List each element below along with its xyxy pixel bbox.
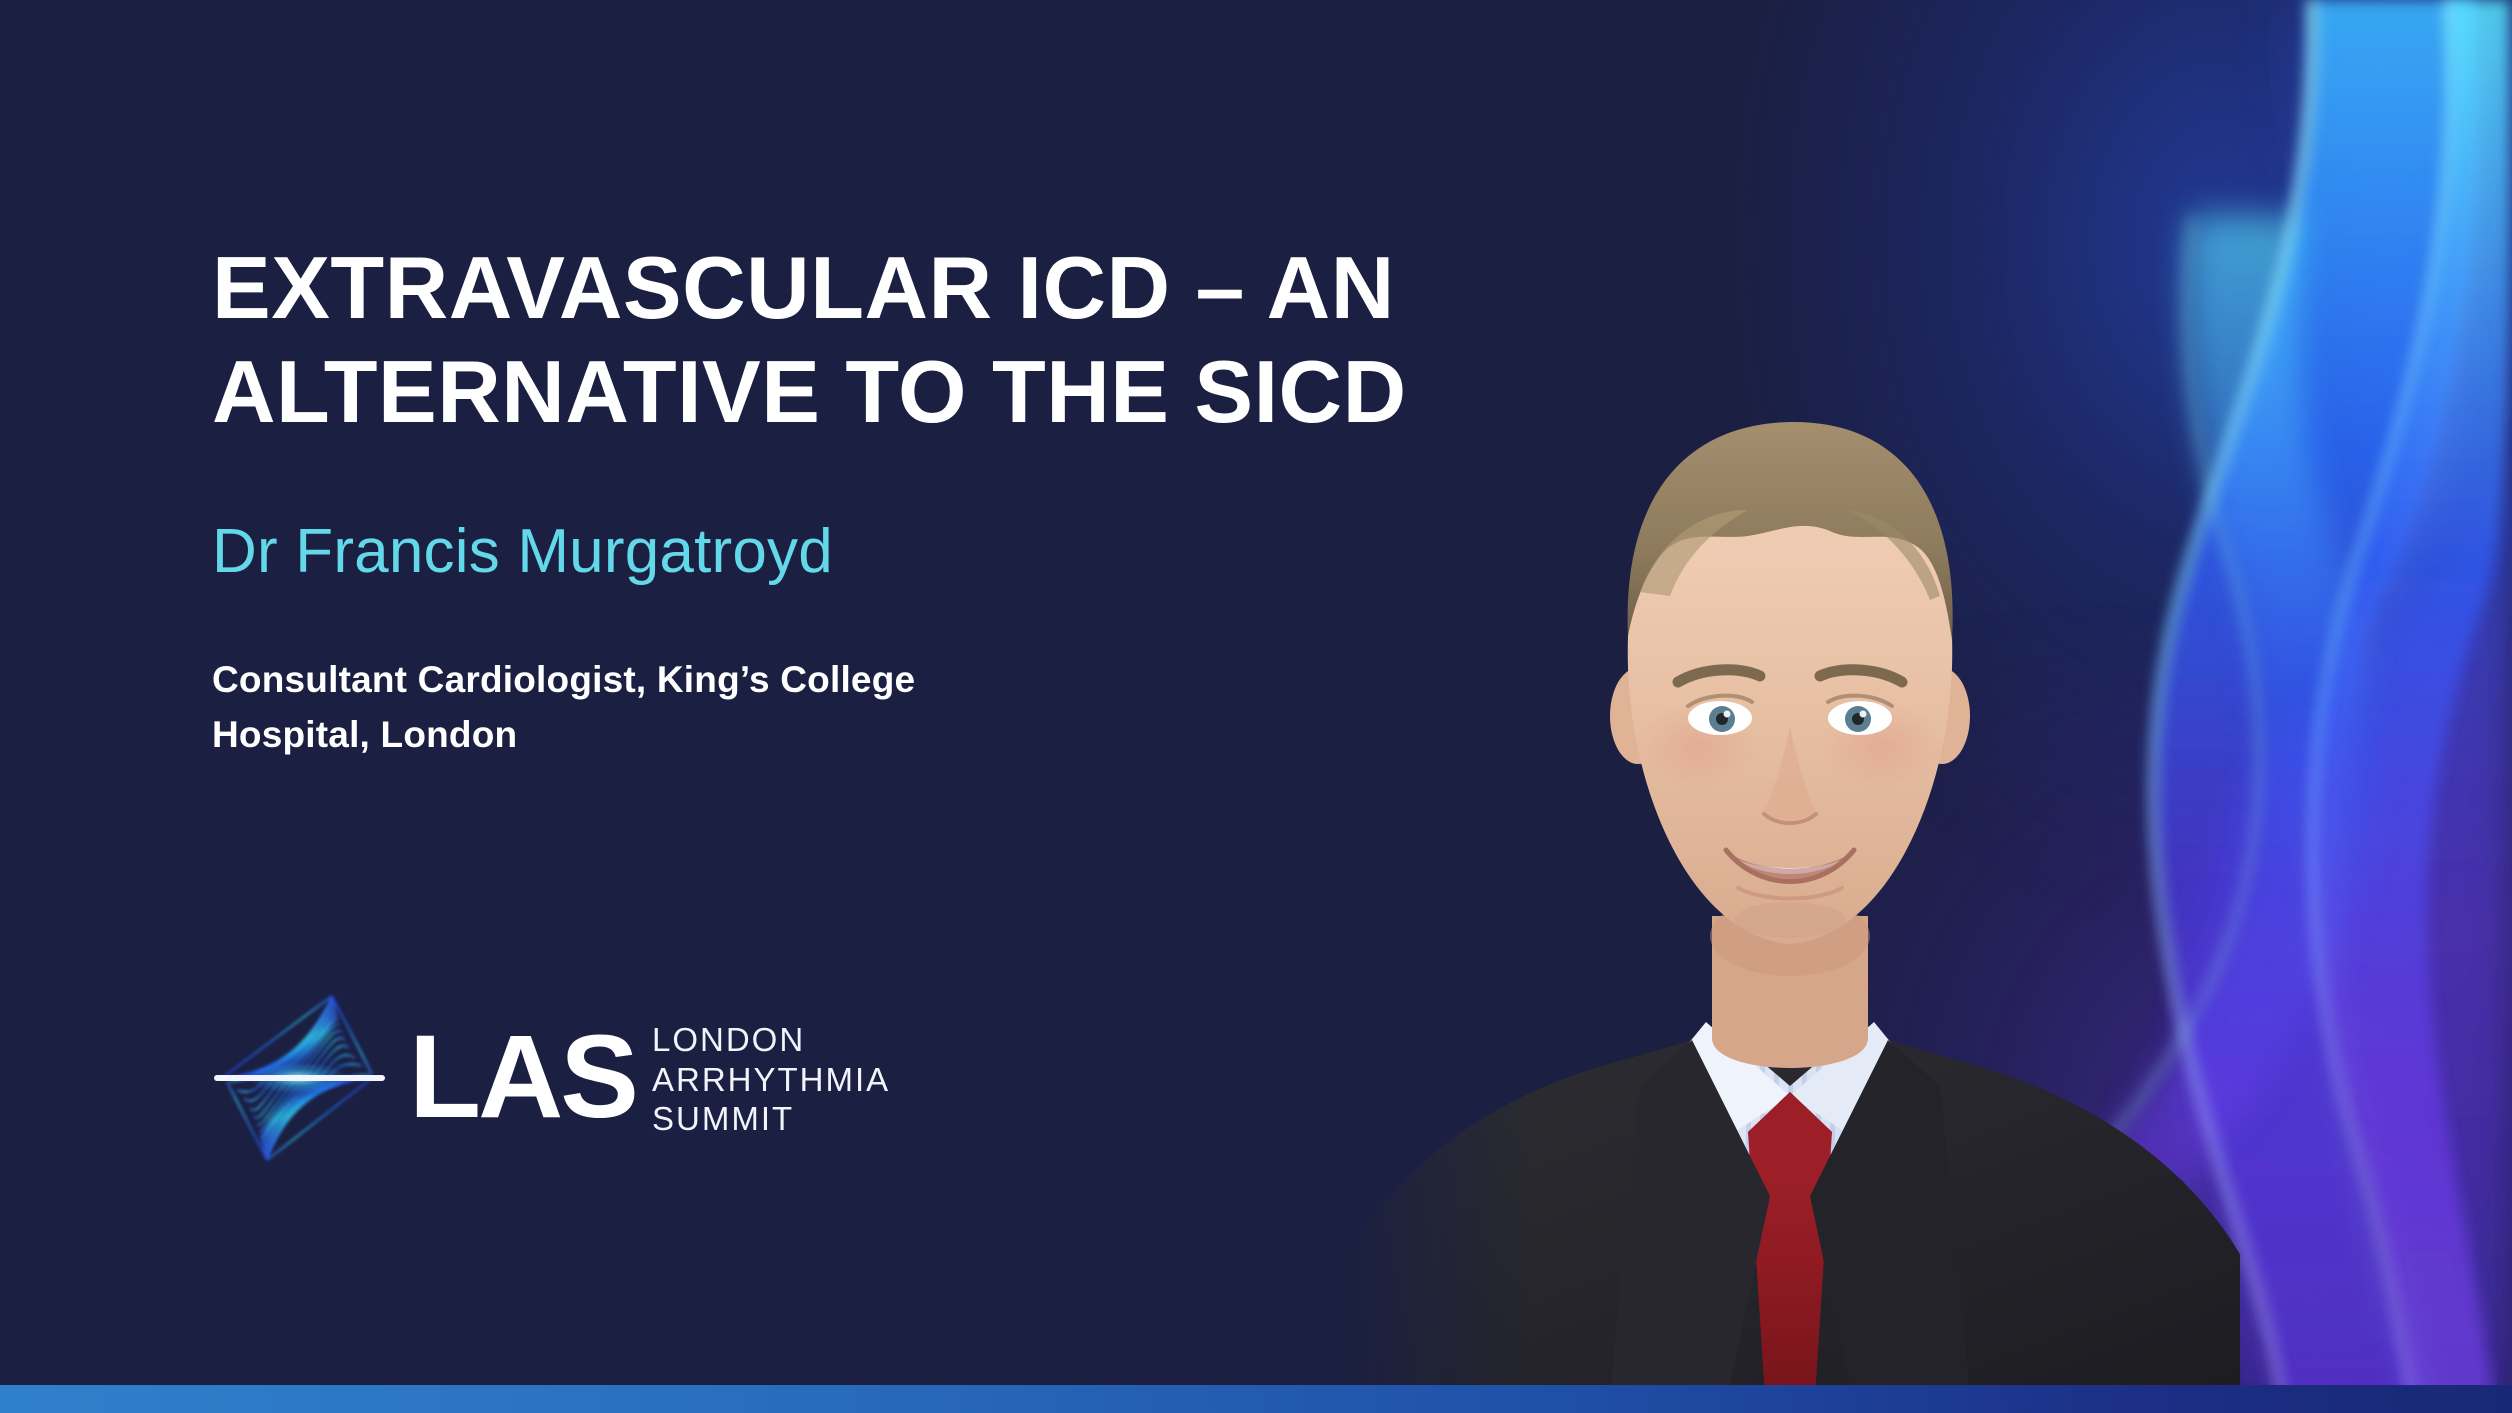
las-acronym: LAS: [409, 1027, 636, 1128]
las-logo: LAS LONDON ARRHYTHMIA SUMMIT: [212, 975, 1022, 1180]
speaker-headshot-illustration: [1340, 296, 2240, 1413]
las-diamond-waveform-mark-icon: [212, 978, 387, 1178]
las-name-line-1: LONDON: [652, 1020, 890, 1060]
speaker-name: Dr Francis Murgatroyd: [212, 515, 833, 589]
slide-text-block: Extravascular ICD – an alternative to th…: [212, 0, 1362, 1413]
las-name-line-2: ARRHYTHMIA: [652, 1060, 890, 1100]
las-name-line-3: SUMMIT: [652, 1099, 890, 1139]
speaker-affiliation: Consultant Cardiologist, King’s College …: [212, 653, 1032, 763]
las-wordmark: LAS LONDON ARRHYTHMIA SUMMIT: [409, 1016, 890, 1139]
footer-accent-bar: [0, 1385, 2512, 1413]
las-full-name: LONDON ARRHYTHMIA SUMMIT: [652, 1020, 890, 1139]
page-title: Extravascular ICD – an alternative to th…: [212, 236, 1422, 444]
presentation-slide: Extravascular ICD – an alternative to th…: [0, 0, 2512, 1413]
speaker-photo: [1340, 296, 2240, 1413]
